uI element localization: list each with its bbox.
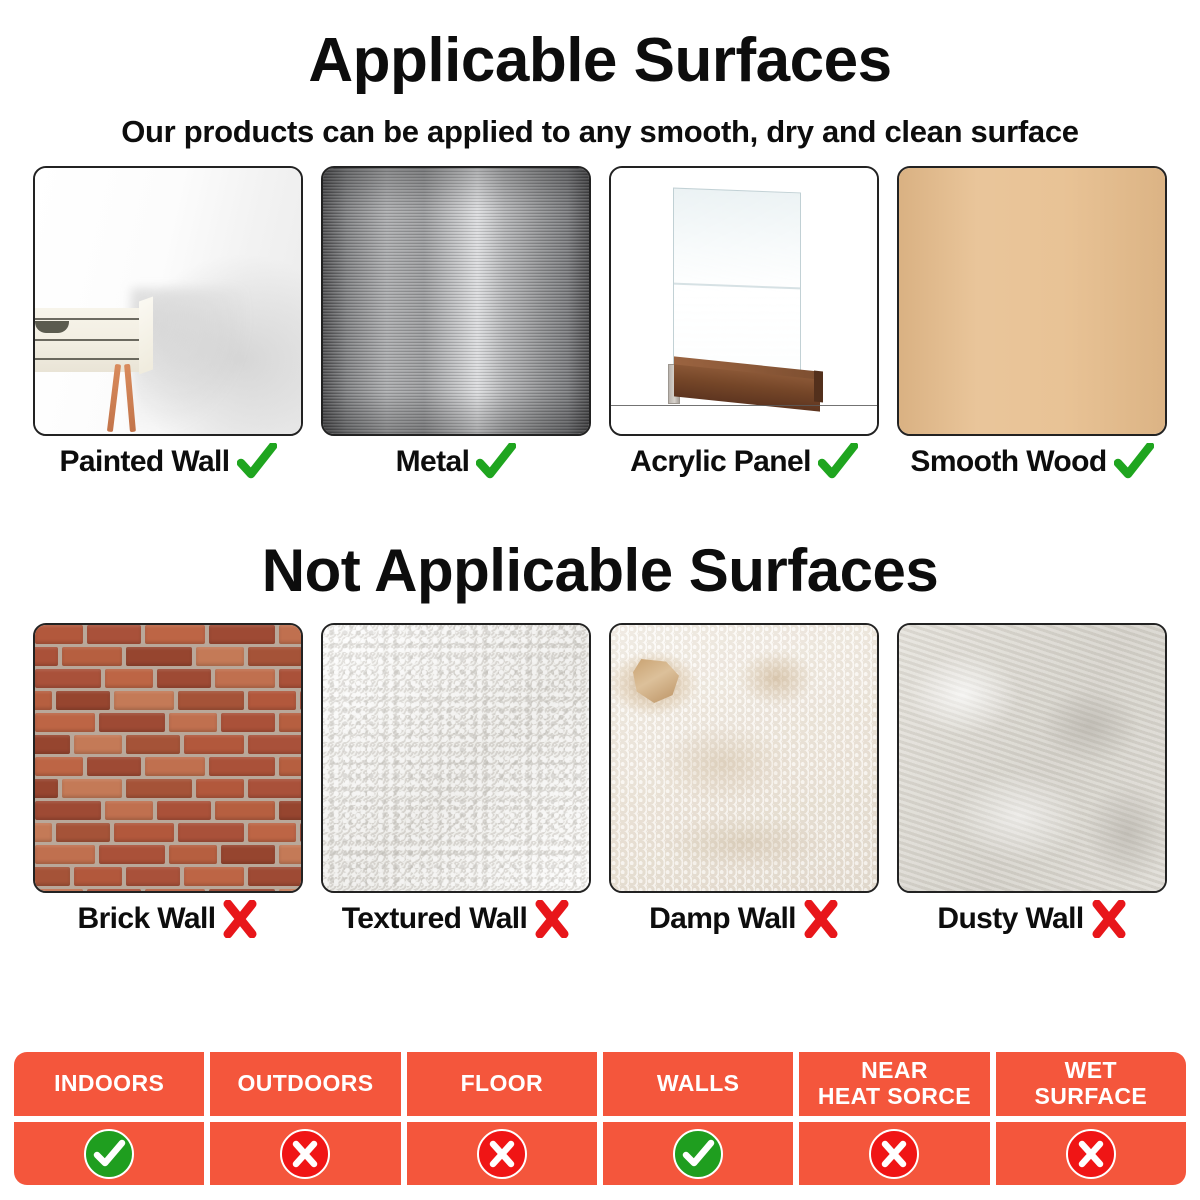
surface-card-metal[interactable]: Metal xyxy=(321,166,591,481)
cross-icon xyxy=(1091,900,1127,938)
red-cross-badge-icon xyxy=(279,1128,331,1180)
usage-status-floor xyxy=(407,1122,597,1185)
surface-label: Brick Wall xyxy=(78,902,216,936)
surface-thumbnail-textured-wall xyxy=(321,623,591,893)
surface-thumbnail-acrylic-panel xyxy=(609,166,879,436)
not-applicable-surface-grid: Brick Wall Textured Wall xyxy=(0,623,1200,938)
surface-label: Painted Wall xyxy=(59,445,229,479)
surface-caption: Smooth Wood xyxy=(897,443,1167,481)
usage-column-walls: WALLS xyxy=(603,1052,793,1185)
check-icon xyxy=(237,443,277,481)
usage-status-near-heat-source xyxy=(799,1122,989,1185)
surface-caption: Metal xyxy=(321,443,591,481)
surface-thumbnail-dusty-wall xyxy=(897,623,1167,893)
usage-header-line1: NEAR xyxy=(861,1057,928,1083)
section-title-applicable: Applicable Surfaces xyxy=(0,0,1200,92)
section-subtitle-applicable: Our products can be applied to any smoot… xyxy=(0,114,1200,150)
cross-icon xyxy=(222,900,258,938)
surface-thumbnail-metal xyxy=(321,166,591,436)
wood-base-side xyxy=(814,371,823,403)
section-title-not-applicable: Not Applicable Surfaces xyxy=(0,541,1200,601)
surface-thumbnail-brick-wall xyxy=(33,623,303,893)
surface-label: Damp Wall xyxy=(649,902,796,936)
surface-caption: Acrylic Panel xyxy=(609,443,879,481)
surface-thumbnail-smooth-wood xyxy=(897,166,1167,436)
usage-column-wet-surface: WET SURFACE xyxy=(996,1052,1186,1185)
surface-caption: Textured Wall xyxy=(321,900,591,938)
surface-card-painted-wall[interactable]: Painted Wall xyxy=(33,166,303,481)
red-cross-badge-icon xyxy=(868,1128,920,1180)
surface-caption: Dusty Wall xyxy=(897,900,1167,938)
check-icon xyxy=(818,443,858,481)
surface-caption: Damp Wall xyxy=(609,900,879,938)
green-check-badge-icon xyxy=(83,1128,135,1180)
usage-header-floor: FLOOR xyxy=(407,1052,597,1116)
console-leg xyxy=(107,364,121,432)
usage-header-near-heat-source: NEAR HEAT SORCE xyxy=(799,1052,989,1116)
floor-line xyxy=(611,405,877,407)
surface-label: Acrylic Panel xyxy=(630,445,811,479)
usage-header-line1: INDOORS xyxy=(54,1070,164,1096)
surface-caption: Painted Wall xyxy=(33,443,303,481)
brushed-metal-texture xyxy=(323,168,589,434)
surface-label: Smooth Wood xyxy=(910,445,1106,479)
usage-header-line1: FLOOR xyxy=(461,1070,544,1096)
surface-label: Dusty Wall xyxy=(937,902,1083,936)
usage-status-indoors xyxy=(14,1122,204,1185)
surface-card-dusty-wall[interactable]: Dusty Wall xyxy=(897,623,1167,938)
damp-wall-texture xyxy=(611,625,877,891)
painted-wall-texture xyxy=(35,168,301,434)
infographic-page: Applicable Surfaces Our products can be … xyxy=(0,0,1200,1200)
usage-header-walls: WALLS xyxy=(603,1052,793,1116)
usage-status-wet-surface xyxy=(996,1122,1186,1185)
usage-header-line2: HEAT SORCE xyxy=(818,1083,971,1109)
usage-header-wet-surface: WET SURFACE xyxy=(996,1052,1186,1116)
green-check-badge-icon xyxy=(672,1128,724,1180)
red-cross-badge-icon xyxy=(1065,1128,1117,1180)
brick-wall-texture xyxy=(35,625,301,891)
cross-icon xyxy=(534,900,570,938)
surface-card-acrylic-panel[interactable]: Acrylic Panel xyxy=(609,166,879,481)
usage-header-line1: WALLS xyxy=(657,1070,740,1096)
usage-header-line1: OUTDOORS xyxy=(237,1070,373,1096)
usage-status-outdoors xyxy=(210,1122,400,1185)
surface-thumbnail-damp-wall xyxy=(609,623,879,893)
dusty-wall-texture xyxy=(899,625,1165,891)
usage-column-indoors: INDOORS xyxy=(14,1052,204,1185)
acrylic-panel-texture xyxy=(611,168,877,434)
surface-label: Textured Wall xyxy=(342,902,528,936)
surface-card-brick-wall[interactable]: Brick Wall xyxy=(33,623,303,938)
console-table xyxy=(33,308,141,372)
surface-caption: Brick Wall xyxy=(33,900,303,938)
red-cross-badge-icon xyxy=(476,1128,528,1180)
surface-thumbnail-painted-wall xyxy=(33,166,303,436)
surface-card-smooth-wood[interactable]: Smooth Wood xyxy=(897,166,1167,481)
usage-table: INDOORS OUTDOORS FLOOR xyxy=(14,1052,1186,1185)
textured-wall-texture xyxy=(323,625,589,891)
smooth-wood-texture xyxy=(899,168,1165,434)
usage-column-floor: FLOOR xyxy=(407,1052,597,1185)
check-icon xyxy=(476,443,516,481)
usage-column-outdoors: OUTDOORS xyxy=(210,1052,400,1185)
usage-header-line1: WET xyxy=(1065,1057,1117,1083)
drawer-handle-icon xyxy=(35,321,69,333)
surface-card-damp-wall[interactable]: Damp Wall xyxy=(609,623,879,938)
peeling-paint-patch xyxy=(633,659,679,703)
usage-column-near-heat-source: NEAR HEAT SORCE xyxy=(799,1052,989,1185)
cross-icon xyxy=(803,900,839,938)
usage-header-outdoors: OUTDOORS xyxy=(210,1052,400,1116)
usage-header-line2: SURFACE xyxy=(1034,1083,1147,1109)
surface-label: Metal xyxy=(396,445,470,479)
check-icon xyxy=(1114,443,1154,481)
usage-status-walls xyxy=(603,1122,793,1185)
applicable-surface-grid: Painted Wall Metal xyxy=(0,166,1200,481)
usage-header-indoors: INDOORS xyxy=(14,1052,204,1116)
surface-card-textured-wall[interactable]: Textured Wall xyxy=(321,623,591,938)
